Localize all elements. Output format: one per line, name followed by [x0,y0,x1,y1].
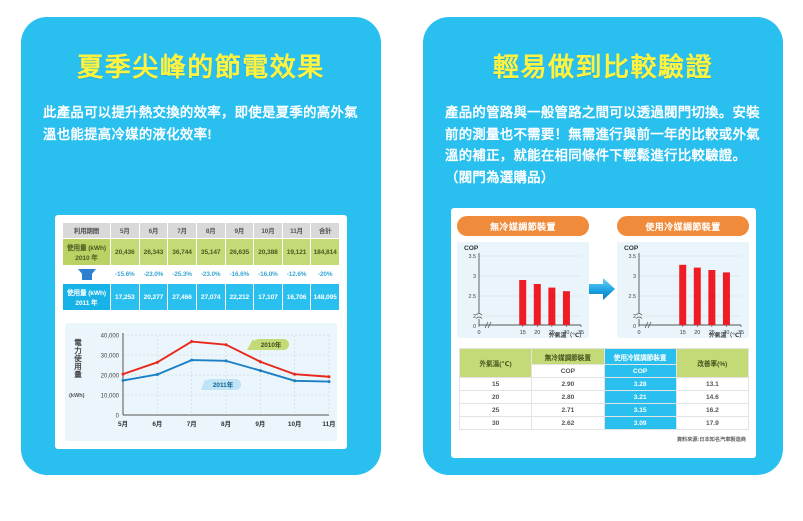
cell-2011-sep: 22,212 [225,284,254,311]
bar-chart-svg-with: 22.533.5001520253035 [617,242,749,338]
svg-text:15: 15 [520,330,526,336]
svg-text:0: 0 [478,330,481,336]
right-card-body: 產品的管路與一般管路之間可以透過閥門切換。安裝前的測量也不需要！無需進行與前一年… [445,102,761,189]
svg-text:2: 2 [473,314,476,320]
cop-header-with: 使用冷媒調節裝置 [604,349,676,365]
table-row-2010: 使用量 (kWh) 2010 年 20,436 26,343 36,744 35… [63,239,340,266]
row-label-2010: 使用量 (kWh) 2010 年 [63,239,111,266]
cop-axis-label-right: COP [624,245,638,252]
cell-delta-jun: -23.0% [139,266,168,284]
svg-text:2011年: 2011年 [213,380,234,389]
cop-header-without: 無冷媒調節裝置 [532,349,604,365]
col-period: 利用期間 [63,223,111,239]
legend-2010: 2010年 [247,339,289,350]
table-row: 25 2.71 3.15 16.2 [460,404,749,417]
left-feature-card: 夏季尖峰的節電效果 此產品可以提升熱交換的效率，即使是夏季的高外氣溫也能提高冷媒… [21,17,381,475]
cell-2010-aug: 35,147 [196,239,225,266]
col-oct: 10月 [254,223,283,239]
col-aug: 8月 [196,223,225,239]
cop-bar-chart-without: COP 22.533.5001520253035 外氣溫（℃） [457,242,589,338]
svg-text:10,000: 10,000 [101,393,120,399]
cop-bar-chart-with: COP 22.533.5001520253035 外氣溫（℃） [617,242,749,338]
svg-text:0: 0 [638,330,641,336]
svg-text:0: 0 [633,324,636,330]
source-note: 資料來源:日本知名汽車製造商 [677,436,746,443]
legend-2011: 2011年 [201,379,241,390]
cell-delta-oct: -16.0% [254,266,283,284]
svg-text:3: 3 [473,274,476,280]
svg-text:11月: 11月 [322,420,335,428]
svg-text:3: 3 [633,274,636,280]
right-card-title: 輕易做到比較驗證 [423,47,783,84]
cop-improve-1: 14.6 [676,391,748,404]
chart-y-axis-unit: (kWh) [69,393,85,399]
cell-delta-may: -15.6% [111,266,140,284]
table-header-row: 利用期間 5月 6月 7月 8月 9月 10月 11月 合計 [63,223,340,239]
cop-without-3: 2.62 [532,417,604,430]
cop-header-row-1: 外氣溫(℃) 無冷媒調節裝置 使用冷媒調節裝置 改善率(%) [460,349,749,365]
svg-text:10月: 10月 [288,420,302,428]
cop-with-3: 3.09 [604,417,676,430]
right-feature-card: 輕易做到比較驗證 產品的管路與一般管路之間可以透過閥門切換。安裝前的測量也不需要… [423,17,783,475]
svg-text:2010年: 2010年 [261,340,282,349]
table-row: 20 2.80 3.21 14.6 [460,391,749,404]
cop-with-1: 3.21 [604,391,676,404]
cell-2011-oct: 17,107 [254,284,283,311]
right-arrow-icon [589,278,615,300]
svg-text:20: 20 [694,330,700,336]
table-row-2011: 使用量 (kWh) 2011 年 17,253 20,277 27,466 27… [63,284,340,311]
svg-text:3.5: 3.5 [469,254,477,260]
down-arrow-icon [63,266,111,284]
cop-subheader-with: COP [604,365,676,378]
left-card-title: 夏季尖峰的節電效果 [21,47,381,84]
cop-with-0: 3.28 [604,378,676,391]
cell-2011-nov: 16,706 [282,284,311,311]
cop-improve-3: 17.9 [676,417,748,430]
comparison-pill-row: 無冷媒調節裝置 使用冷媒調節裝置 [451,216,756,238]
svg-text:7月: 7月 [187,420,197,428]
right-data-panel: 無冷媒調節裝置 使用冷媒調節裝置 COP 22.533.500152025303… [451,208,756,458]
svg-text:20: 20 [534,330,540,336]
col-total: 合計 [311,223,340,239]
col-sep: 9月 [225,223,254,239]
cop-header-improve: 改善率(%) [676,349,748,378]
table-row: 15 2.90 3.28 13.1 [460,378,749,391]
svg-text:6月: 6月 [152,420,162,428]
cell-delta-sep: -16.6% [225,266,254,284]
table-row: 30 2.62 3.09 17.9 [460,417,749,430]
cell-delta-nov: -12.6% [282,266,311,284]
power-usage-line-chart: 電力使用量 (kWh) 010,00020,00030,00040,0005月6… [65,323,337,441]
cop-temp-1: 20 [460,391,532,404]
cop-temp-0: 15 [460,378,532,391]
cop-without-0: 2.90 [532,378,604,391]
cop-temp-2: 25 [460,404,532,417]
svg-text:9月: 9月 [255,420,265,428]
col-nov: 11月 [282,223,311,239]
cell-2010-may: 20,436 [111,239,140,266]
col-may: 5月 [111,223,140,239]
cop-with-2: 3.15 [604,404,676,417]
cell-2010-sep: 26,635 [225,239,254,266]
cell-2010-total: 184,814 [311,239,340,266]
cop-axis-label-left: COP [464,245,478,252]
cell-2010-nov: 19,121 [282,239,311,266]
poster-root: 夏季尖峰的節電效果 此產品可以提升熱交換的效率，即使是夏季的高外氣溫也能提高冷媒… [0,0,803,521]
cop-without-1: 2.80 [532,391,604,404]
svg-text:15: 15 [680,330,686,336]
left-data-panel: 利用期間 5月 6月 7月 8月 9月 10月 11月 合計 使用量 (kWh)… [55,215,347,449]
svg-text:20,000: 20,000 [101,373,120,379]
cell-2010-oct: 20,388 [254,239,283,266]
svg-text:3.5: 3.5 [629,254,637,260]
cop-improve-0: 13.1 [676,378,748,391]
pill-without-device: 無冷媒調節裝置 [457,216,589,236]
svg-text:0: 0 [116,413,120,419]
cop-improve-2: 16.2 [676,404,748,417]
cell-2011-total: 148,095 [311,284,340,311]
cell-delta-aug: -23.0% [196,266,225,284]
left-card-body: 此產品可以提升熱交換的效率，即使是夏季的高外氣溫也能提高冷媒的液化效率! [43,102,359,145]
cell-2010-jul: 36,744 [168,239,197,266]
cell-2011-jul: 27,466 [168,284,197,311]
svg-text:0: 0 [473,324,476,330]
cell-2011-jun: 20,277 [139,284,168,311]
x-axis-label-right: 外氣溫（℃） [709,330,745,339]
svg-text:2.5: 2.5 [469,294,477,300]
svg-text:2.5: 2.5 [629,294,637,300]
chart-y-axis-title: 電力使用量 [71,339,85,379]
x-axis-label-left: 外氣溫（℃） [549,330,585,339]
col-jul: 7月 [168,223,197,239]
svg-text:40,000: 40,000 [101,333,120,339]
line-chart-svg: 010,00020,00030,00040,0005月6月7月8月9月10月11… [65,323,337,441]
cell-2010-jun: 26,343 [139,239,168,266]
cell-2011-aug: 27,074 [196,284,225,311]
cop-header-temp: 外氣溫(℃) [460,349,532,378]
cop-without-2: 2.71 [532,404,604,417]
cell-delta-total: -20% [311,266,340,284]
col-jun: 6月 [139,223,168,239]
cop-subheader-without: COP [532,365,604,378]
cell-2011-may: 17,253 [111,284,140,311]
svg-text:2: 2 [633,314,636,320]
svg-text:8月: 8月 [221,420,231,428]
row-label-2011: 使用量 (kWh) 2011 年 [63,284,111,311]
cop-comparison-table: 外氣溫(℃) 無冷媒調節裝置 使用冷媒調節裝置 改善率(%) COP COP 1… [459,348,749,430]
bar-chart-svg-without: 22.533.5001520253035 [457,242,589,338]
svg-text:5月: 5月 [118,420,128,428]
cell-delta-jul: -25.3% [168,266,197,284]
usage-table: 利用期間 5月 6月 7月 8月 9月 10月 11月 合計 使用量 (kWh)… [62,222,340,311]
pill-with-device: 使用冷媒調節裝置 [617,216,749,236]
svg-text:30,000: 30,000 [101,353,120,359]
cop-temp-3: 30 [460,417,532,430]
table-row-delta: -15.6% -23.0% -25.3% -23.0% -16.6% -16.0… [63,266,340,284]
